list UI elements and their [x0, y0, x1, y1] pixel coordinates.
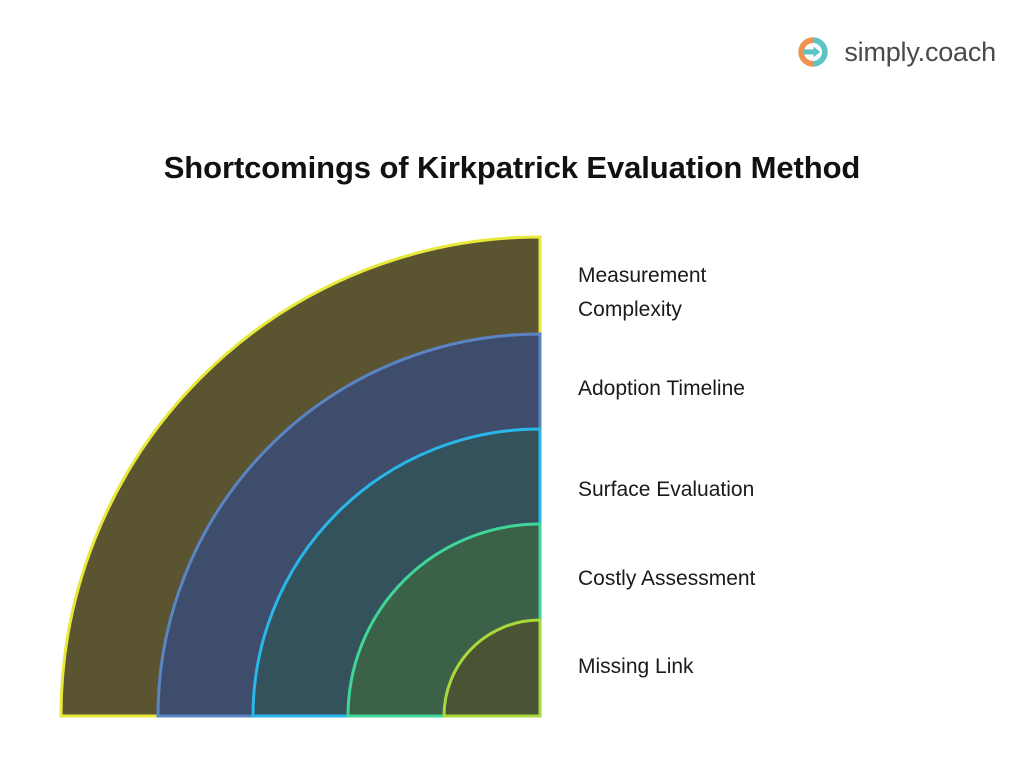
arc-label-measurement-complexity: Measurement Complexity: [578, 259, 706, 326]
arc-label-adoption-timeline: Adoption Timeline: [578, 372, 745, 406]
arc-bands: [61, 237, 540, 716]
arc-label-surface-evaluation: Surface Evaluation: [578, 473, 754, 507]
arc-label-missing-link: Missing Link: [578, 650, 694, 684]
arc-label-list: Measurement Complexity Adoption Timeline…: [578, 237, 978, 717]
arc-label-costly-assessment: Costly Assessment: [578, 562, 755, 596]
